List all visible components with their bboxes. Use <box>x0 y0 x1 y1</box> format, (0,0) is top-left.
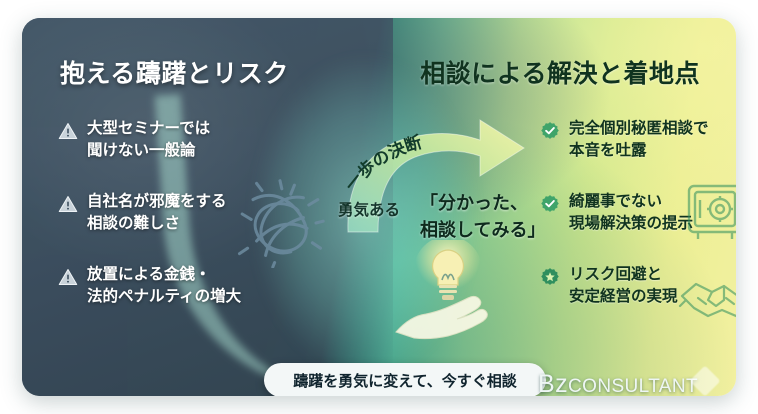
check-badge-icon <box>540 121 560 141</box>
list-item-text: 綺麗事でない 現場解決策の提示 <box>569 191 693 236</box>
lightbulb-on-hand-icon <box>388 240 504 344</box>
brand-logo-prefix: Bz <box>538 370 568 396</box>
list-item-line2: 聞けない一般論 <box>87 142 196 159</box>
list-item-line2: 相談の難しさ <box>87 215 180 232</box>
poster-canvas: 抱える躊躇とリスク 相談による解決と着地点 大型セミナーでは 聞けない一般論 <box>0 0 758 414</box>
list-item: 放置による金銭・ 法的ペナルティの増大 <box>58 264 308 309</box>
list-item: 大型セミナーでは 聞けない一般論 <box>58 118 308 163</box>
list-item-text: 放置による金銭・ 法的ペナルティの増大 <box>87 264 241 309</box>
list-item-line1: 自社名が邪魔をする <box>87 193 227 210</box>
list-item-text: 自社名が邪魔をする 相談の難しさ <box>87 191 227 236</box>
list-item-text: 完全個別秘匿相談で 本音を吐露 <box>569 118 709 163</box>
list-item-line1: 大型セミナーでは <box>87 120 210 137</box>
warning-triangle-icon <box>58 267 78 287</box>
list-item-text: リスク回避と 安定経営の実現 <box>569 264 678 309</box>
right-section-title: 相談による解決と着地点 <box>420 54 700 90</box>
list-item-line2: 現場解決策の提示 <box>569 215 693 232</box>
star-badge-icon <box>540 267 560 287</box>
decision-quote: 「分かった、 相談してみる」 <box>420 190 566 244</box>
list-item-line2: 本音を吐露 <box>569 142 647 159</box>
left-section-title: 抱える躊躇とリスク <box>60 54 289 90</box>
safe-box-icon <box>684 180 736 246</box>
list-item-line2: 法的ペナルティの増大 <box>87 288 241 305</box>
warning-triangle-icon <box>58 121 78 141</box>
list-item-line1: 放置による金銭・ <box>87 266 211 283</box>
list-item: 完全個別秘匿相談で 本音を吐露 <box>540 118 736 163</box>
warning-triangle-icon <box>58 194 78 214</box>
main-card: 抱える躊躇とリスク 相談による解決と着地点 大型セミナーでは 聞けない一般論 <box>22 18 736 396</box>
list-item-line1: リスク回避と <box>569 266 662 283</box>
brave-step-label: 勇気ある <box>338 198 400 220</box>
quote-line2: 相談してみる」 <box>420 220 545 240</box>
list-item-line2: 安定経営の実現 <box>569 288 678 305</box>
list-item-line1: 完全個別秘匿相談で <box>569 120 709 137</box>
quote-line1: 「分かった、 <box>420 193 528 213</box>
brand-logo: BzCONSULTANT <box>538 370 698 396</box>
cta-pill[interactable]: 躊躇を勇気に変えて、今すぐ相談 <box>264 363 546 396</box>
curved-text-label: 一歩の決断 <box>344 132 424 195</box>
brand-logo-suffix: CONSULTANT <box>568 376 698 396</box>
list-item-text: 大型セミナーでは 聞けない一般論 <box>87 118 210 163</box>
cta-pill-label: 躊躇を勇気に変えて、今すぐ相談 <box>293 370 517 391</box>
tangled-knot-icon <box>234 178 326 268</box>
handshake-icon <box>678 274 736 324</box>
list-item-line1: 綺麗事でない <box>569 193 662 210</box>
